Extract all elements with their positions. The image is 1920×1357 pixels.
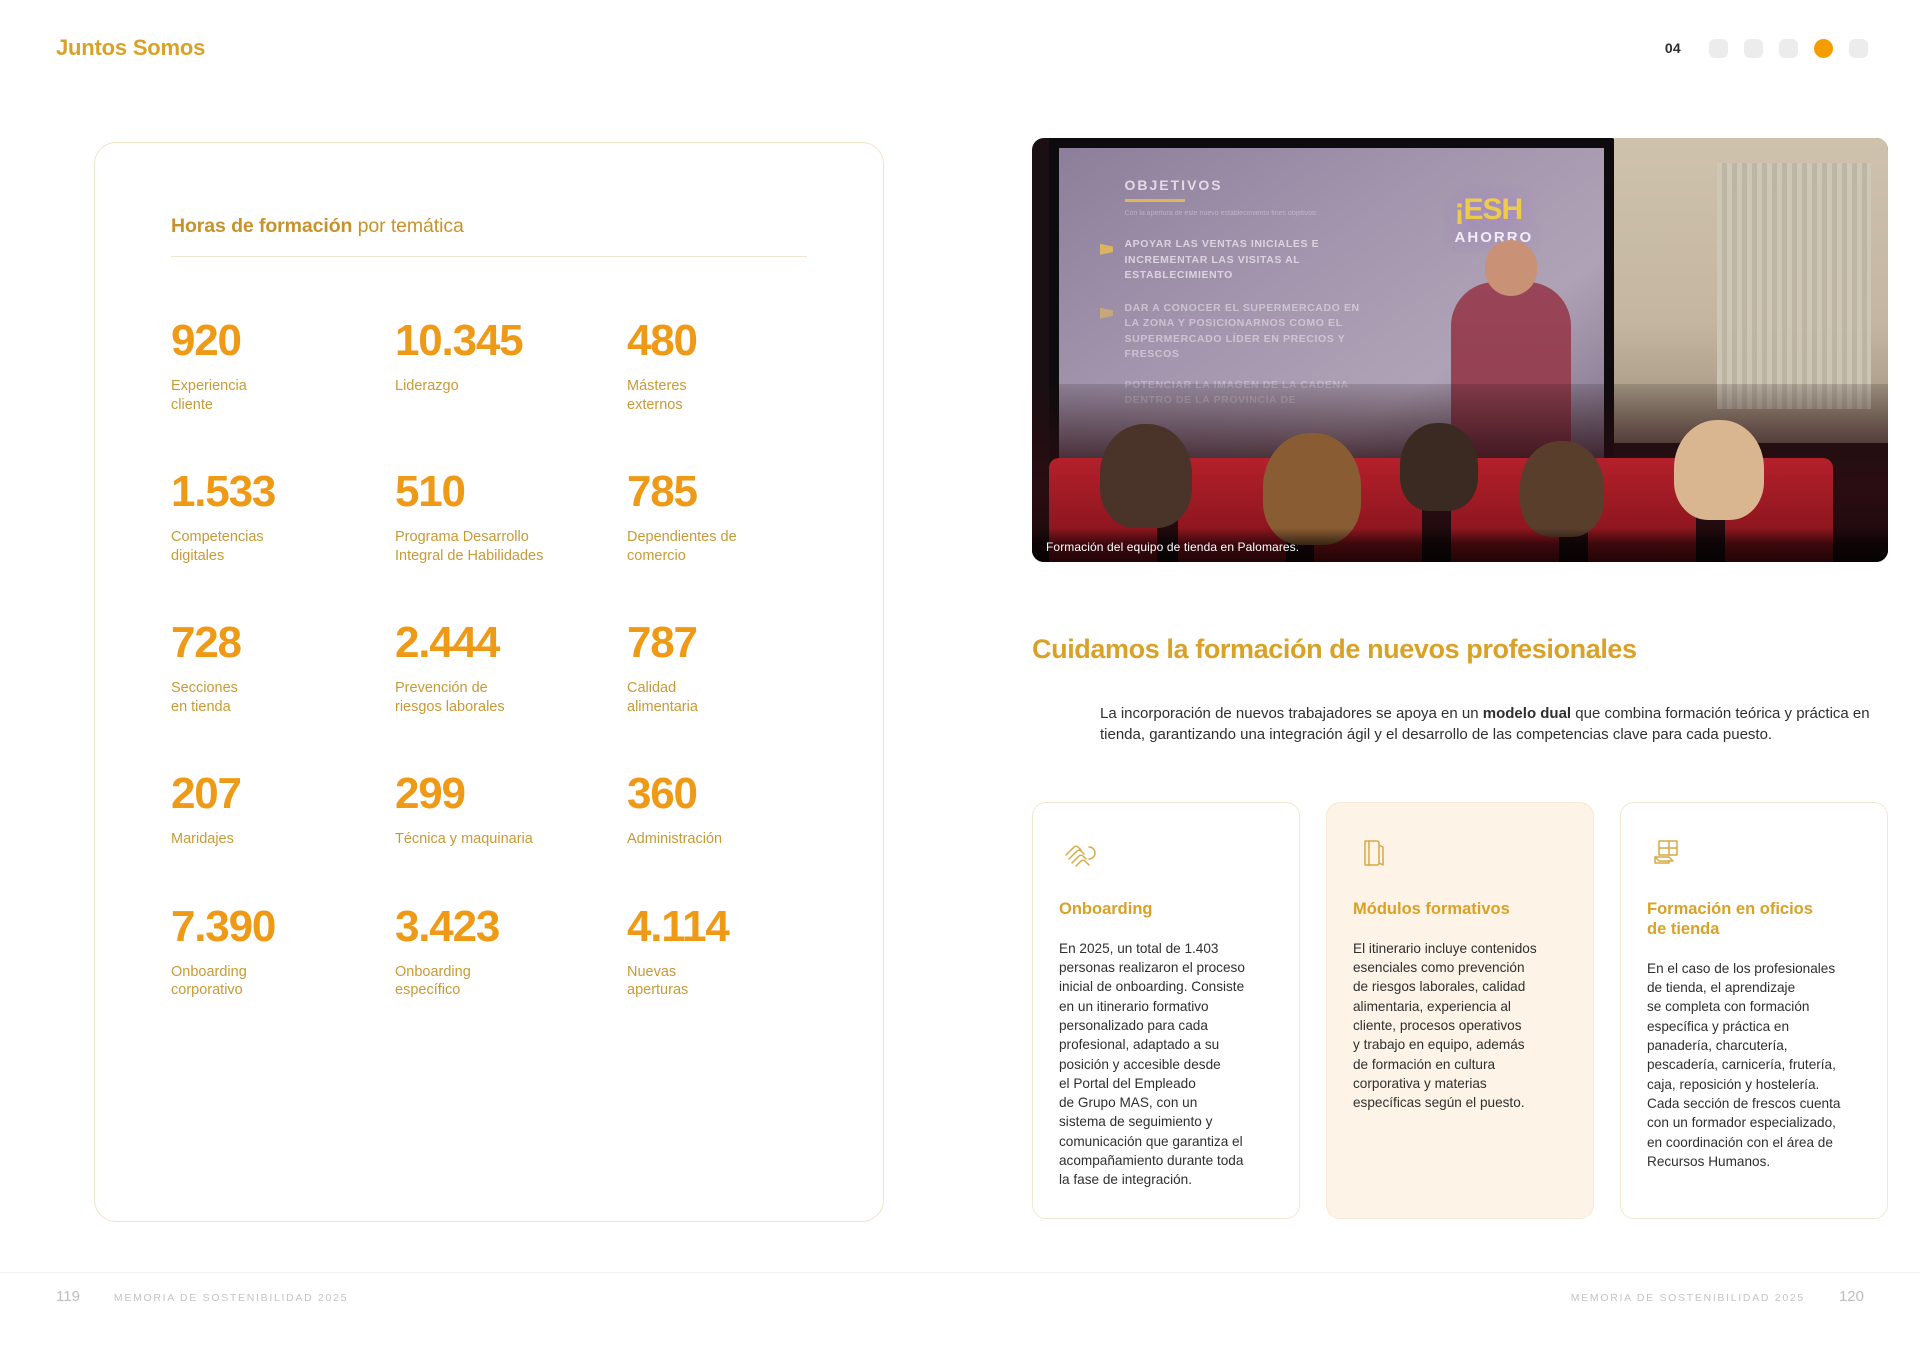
stat-value: 787 (627, 621, 807, 665)
panel-title-bold: Horas de formación (171, 215, 352, 237)
stat-value: 785 (627, 470, 807, 514)
stat-label: Onboarding específico (395, 963, 627, 1000)
brand-title: Juntos Somos (56, 35, 205, 61)
photo-attendee-head (1674, 420, 1764, 520)
stat-label: Calidad alimentaria (627, 679, 807, 716)
statistics-grid: 920 Experiencia cliente 10.345 Liderazgo… (171, 319, 807, 1000)
stat-value: 10.345 (395, 319, 627, 363)
paragraph-bold-term: modelo dual (1483, 705, 1571, 722)
panel-divider (171, 256, 807, 257)
pager-dot-5[interactable] (1849, 39, 1868, 58)
pager-dots[interactable] (1709, 39, 1868, 58)
training-photo: OBJETIVOS Con la apertura de este nuevo … (1032, 138, 1888, 562)
stat-value: 920 (171, 319, 395, 363)
photo-curtain (1717, 163, 1871, 409)
stat-value: 480 (627, 319, 807, 363)
training-hours-panel: Horas de formación por temática 920 Expe… (94, 142, 884, 1222)
stat-value: 4.114 (627, 905, 807, 949)
left-page-number: 119 (56, 1288, 80, 1305)
stat-label: Administración (627, 830, 807, 849)
card-body: El itinerario incluye contenidos esencia… (1353, 939, 1567, 1113)
stat-value: 510 (395, 470, 627, 514)
info-cards: Onboarding En 2025, un total de 1.403 pe… (1032, 802, 1888, 1219)
slide-bullet-1: APOYAR LAS VENTAS INICIALES E INCREMENTA… (1125, 237, 1376, 283)
stat-label: Programa Desarrollo Integral de Habilida… (395, 528, 627, 565)
stat-item: 207 Maridajes (171, 772, 395, 849)
stat-label: Prevención de riesgos laborales (395, 679, 627, 716)
card-body: En 2025, un total de 1.403 personas real… (1059, 939, 1273, 1190)
right-footer-text: MEMORIA DE SOSTENIBILIDAD 2025 (1571, 1292, 1805, 1304)
stat-value: 207 (171, 772, 395, 816)
stat-value: 360 (627, 772, 807, 816)
stat-label: Másteres externos (627, 377, 807, 414)
section-paragraph: La incorporación de nuevos trabajadores … (1100, 703, 1888, 746)
pager-dot-1[interactable] (1709, 39, 1728, 58)
handshake-icon (1059, 833, 1273, 877)
paragraph-part-1: La incorporación de nuevos trabajadores … (1100, 705, 1483, 722)
stat-value: 2.444 (395, 621, 627, 665)
page-header: Juntos Somos 04 (0, 0, 1920, 96)
stat-item: 299 Técnica y maquinaria (395, 772, 627, 849)
stat-label: Liderazgo (395, 377, 627, 396)
stat-value: 299 (395, 772, 627, 816)
stat-label: Competencias digitales (171, 528, 395, 565)
card-title: Formación en oficios de tienda (1647, 899, 1861, 939)
slide-bullet-marker-1 (1100, 244, 1113, 255)
section-pager: 04 (1665, 39, 1868, 58)
stat-item: 787 Calidad alimentaria (627, 621, 807, 716)
stat-value: 3.423 (395, 905, 627, 949)
slide-bullet-2: DAR A CONOCER EL SUPERMERCADO EN LA ZONA… (1125, 301, 1376, 362)
stat-item: 4.114 Nuevas aperturas (627, 905, 807, 1000)
slide-logo: ¡ESH AHORRO (1455, 193, 1534, 246)
slide-bullet-marker-2 (1100, 308, 1113, 319)
section-number: 04 (1665, 40, 1681, 56)
card-modulos-formativos: Módulos formativos El itinerario incluye… (1326, 802, 1594, 1219)
stat-item: 2.444 Prevención de riesgos laborales (395, 621, 627, 716)
stat-item: 480 Másteres externos (627, 319, 807, 414)
slide-subtitle: Con la apertura de este nuevo establecim… (1125, 209, 1376, 220)
stat-label: Onboarding corporativo (171, 963, 395, 1000)
stat-item: 510 Programa Desarrollo Integral de Habi… (395, 470, 627, 565)
store-shelf-icon (1647, 833, 1861, 877)
stat-item: 728 Secciones en tienda (171, 621, 395, 716)
photo-attendee-head (1100, 424, 1192, 528)
slide-title-underline (1125, 199, 1185, 202)
card-title: Módulos formativos (1353, 899, 1567, 919)
right-page: OBJETIVOS Con la apertura de este nuevo … (1032, 138, 1888, 1219)
stat-item: 1.533 Competencias digitales (171, 470, 395, 565)
card-body: En el caso de los profesionales de tiend… (1647, 959, 1861, 1171)
stat-label: Dependientes de comercio (627, 528, 807, 565)
stat-item: 920 Experiencia cliente (171, 319, 395, 414)
photo-attendee-head (1520, 441, 1604, 537)
stat-value: 7.390 (171, 905, 395, 949)
stat-item: 360 Administración (627, 772, 807, 849)
pager-dot-2[interactable] (1744, 39, 1763, 58)
stat-item: 10.345 Liderazgo (395, 319, 627, 414)
slide-logo-text: ¡ESH (1455, 193, 1523, 226)
stat-label: Experiencia cliente (171, 377, 395, 414)
page-footer: 119 MEMORIA DE SOSTENIBILIDAD 2025 MEMOR… (0, 1288, 1920, 1305)
section-heading: Cuidamos la formación de nuevos profesio… (1032, 634, 1888, 665)
pager-dot-3[interactable] (1779, 39, 1798, 58)
panel-title-rest: por temática (352, 215, 463, 237)
card-formacion-oficios: Formación en oficios de tienda En el cas… (1620, 802, 1888, 1219)
stat-label: Secciones en tienda (171, 679, 395, 716)
photo-caption: Formación del equipo de tienda en Paloma… (1046, 540, 1299, 554)
stat-item: 785 Dependientes de comercio (627, 470, 807, 565)
stat-value: 1.533 (171, 470, 395, 514)
stat-item: 7.390 Onboarding corporativo (171, 905, 395, 1000)
stat-label: Nuevas aperturas (627, 963, 807, 1000)
stat-label: Técnica y maquinaria (395, 830, 627, 849)
card-onboarding: Onboarding En 2025, un total de 1.403 pe… (1032, 802, 1300, 1219)
card-title: Onboarding (1059, 899, 1273, 919)
stat-label: Maridajes (171, 830, 395, 849)
slide-title: OBJETIVOS (1125, 177, 1223, 193)
pager-dot-4-active[interactable] (1814, 39, 1833, 58)
book-icon (1353, 833, 1567, 877)
page-spread: Juntos Somos 04 Horas de formación por t… (0, 0, 1920, 1357)
panel-title: Horas de formación por temática (171, 215, 807, 238)
footer-right: MEMORIA DE SOSTENIBILIDAD 2025 120 (1571, 1288, 1864, 1305)
right-page-number: 120 (1839, 1288, 1864, 1305)
left-footer-text: MEMORIA DE SOSTENIBILIDAD 2025 (114, 1292, 348, 1304)
footer-left: 119 MEMORIA DE SOSTENIBILIDAD 2025 (56, 1288, 348, 1305)
photo-attendee-head (1400, 423, 1478, 511)
stat-item: 3.423 Onboarding específico (395, 905, 627, 1000)
footer-divider (0, 1272, 1920, 1273)
stat-value: 728 (171, 621, 395, 665)
